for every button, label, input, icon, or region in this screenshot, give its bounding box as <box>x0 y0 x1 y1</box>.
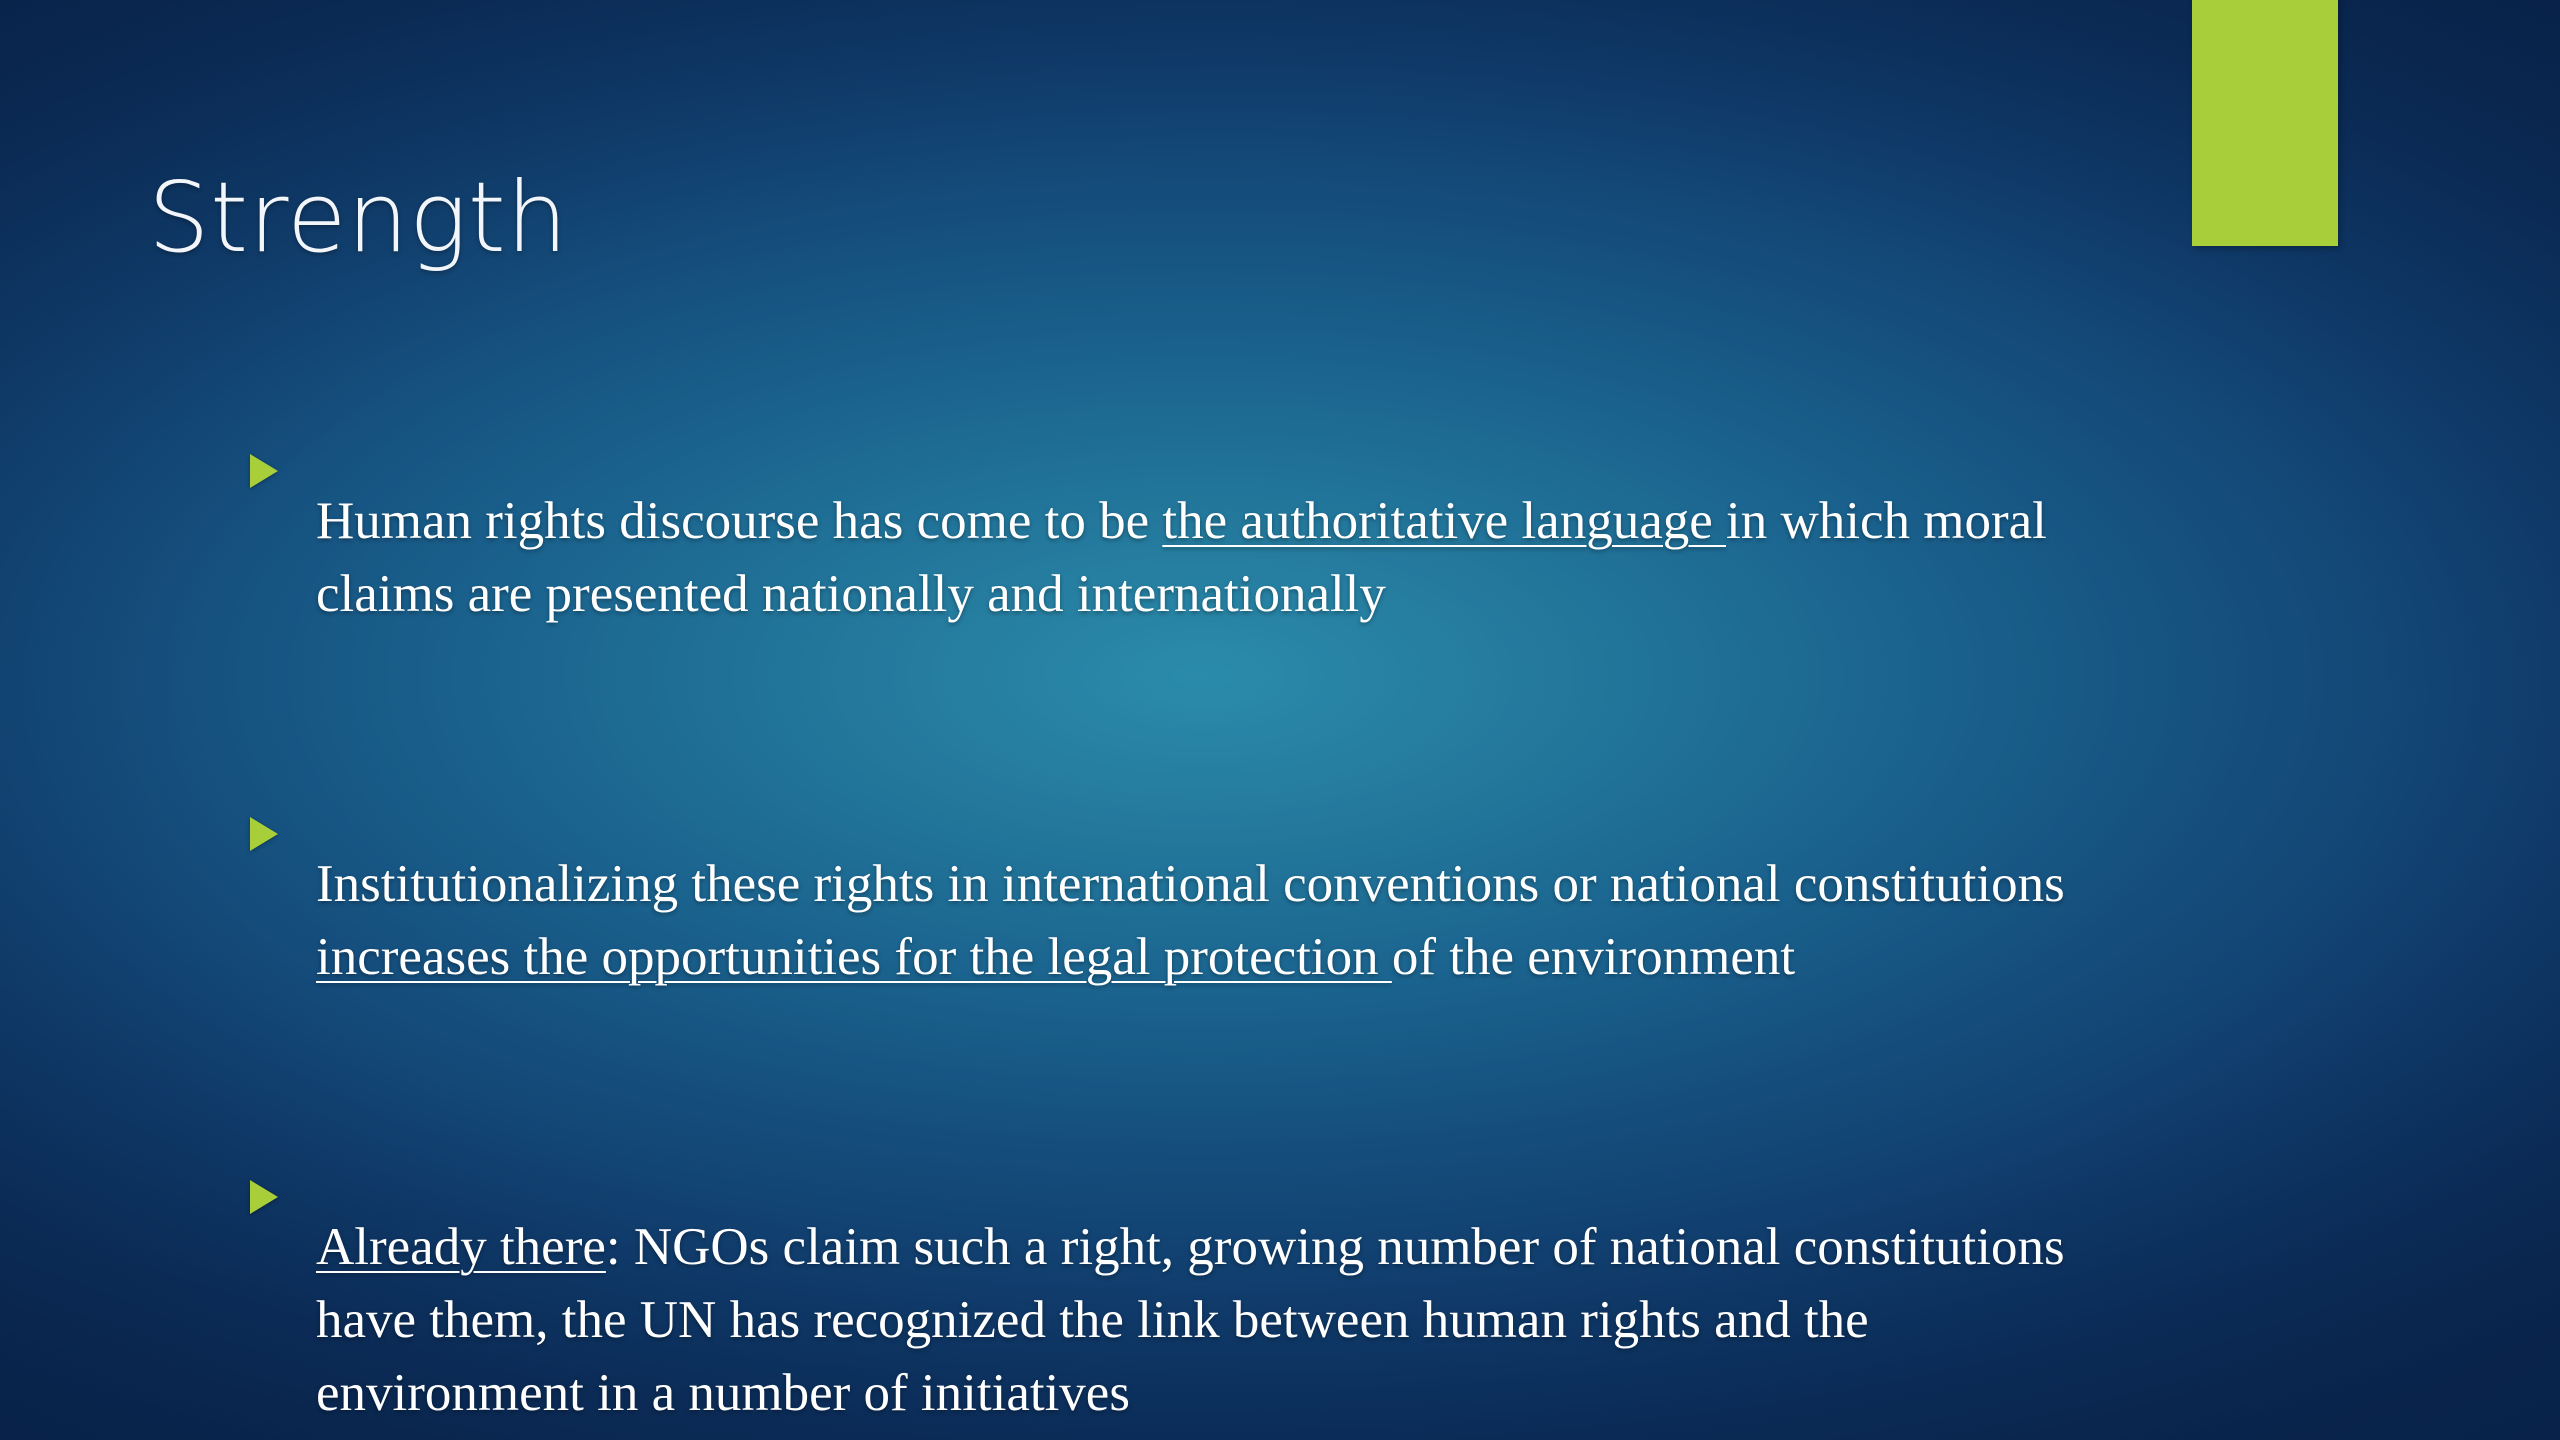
list-item: Institutionalizing these rights in inter… <box>250 795 2100 1046</box>
list-item: Human rights discourse has come to be th… <box>250 432 2100 683</box>
underlined-phrase: Already there <box>316 1218 606 1276</box>
triangle-bullet-icon <box>250 1180 280 1214</box>
triangle-bullet-icon <box>250 454 280 488</box>
accent-rectangle <box>2192 0 2338 246</box>
bullet-text-3: Already there: NGOs claim such a right, … <box>316 1211 2100 1429</box>
text-run: Human rights discourse has come to be <box>316 492 1162 550</box>
bullet-text-1: Human rights discourse has come to be th… <box>316 485 2100 630</box>
triangle-bullet-icon <box>250 817 280 851</box>
slide-title: Strength <box>148 161 568 274</box>
bullet-list: Human rights discourse has come to be th… <box>250 432 2100 1440</box>
underlined-phrase: the authoritative language <box>1162 492 1726 550</box>
presentation-slide: Strength Human rights discourse has come… <box>0 0 2560 1440</box>
list-item: Already there: NGOs claim such a right, … <box>250 1158 2100 1440</box>
underlined-phrase: increases the opportunities for the lega… <box>316 928 1392 986</box>
text-run: of the environment <box>1392 928 1795 986</box>
bullet-text-2: Institutionalizing these rights in inter… <box>316 848 2100 993</box>
text-run: Institutionalizing these rights in inter… <box>316 855 2065 913</box>
